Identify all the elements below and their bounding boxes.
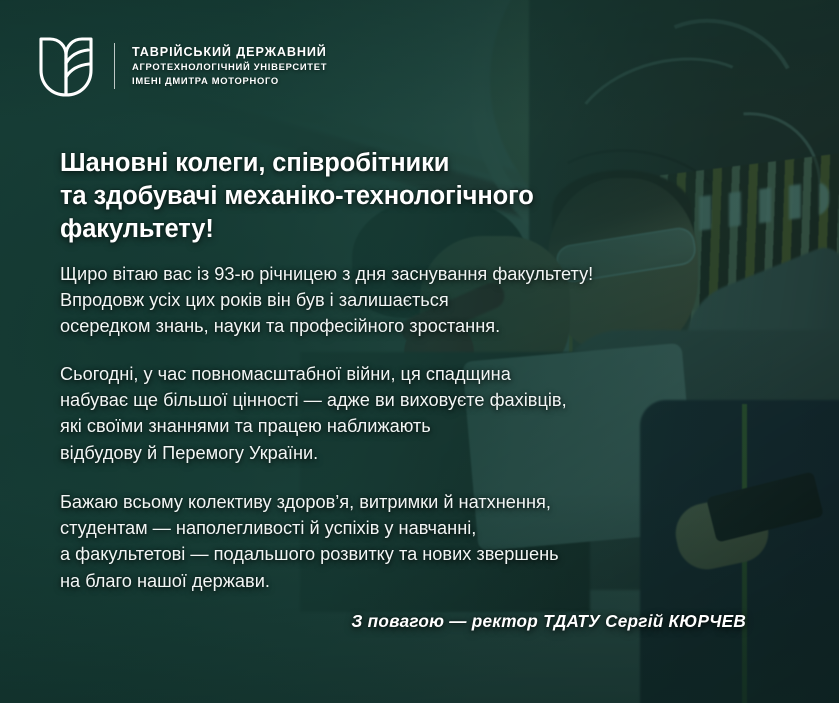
logo-line-3: ІМЕНІ ДМИТРА МОТОРНОГО <box>132 76 327 87</box>
body-line: на благо нашої держави. <box>60 568 760 594</box>
body-paragraph: Бажаю всьому колективу здоров’я, витримк… <box>60 489 760 594</box>
logo-divider <box>114 43 115 89</box>
body-line: а факультетові — подальшого розвитку та … <box>60 541 760 567</box>
body-paragraph: Сьогодні, у час повномасштабної війни, ц… <box>60 361 760 466</box>
body-line: Бажаю всьому колективу здоров’я, витримк… <box>60 489 760 515</box>
headline-line-3: факультету! <box>60 213 720 246</box>
body-line: які своїми знаннями та працею наближають <box>60 413 760 439</box>
logo-line-2: АГРОТЕХНОЛОГІЧНИЙ УНІВЕРСИТЕТ <box>132 62 327 73</box>
headline-line-2: та здобувачі механіко-технологічного <box>60 180 720 213</box>
signature-line: З повагою — ректор ТДАТУ Сергій КЮРЧЕВ <box>0 611 746 632</box>
headline-line-1: Шановні колеги, співробітники <box>60 147 720 180</box>
greeting-poster: ТАВРІЙСЬКИЙ ДЕРЖАВНИЙ АГРОТЕХНОЛОГІЧНИЙ … <box>0 0 839 703</box>
university-logo: ТАВРІЙСЬКИЙ ДЕРЖАВНИЙ АГРОТЕХНОЛОГІЧНИЙ … <box>33 33 327 99</box>
body-line: студентам — наполегливості й успіхів у н… <box>60 515 760 541</box>
tulip-leaf-icon <box>33 33 99 99</box>
body-line: Впродовж усіх цих років він був і залиша… <box>60 287 760 313</box>
body-line: Сьогодні, у час повномасштабної війни, ц… <box>60 361 760 387</box>
body-line: набуває ще більшої цінності — адже ви ви… <box>60 387 760 413</box>
body-paragraph: Щиро вітаю вас із 93-ю річницею з дня за… <box>60 261 760 340</box>
poster-content: ТАВРІЙСЬКИЙ ДЕРЖАВНИЙ АГРОТЕХНОЛОГІЧНИЙ … <box>0 0 839 703</box>
body-line: осередком знань, науки та професійного з… <box>60 313 760 339</box>
body-line: Щиро вітаю вас із 93-ю річницею з дня за… <box>60 261 760 287</box>
headline: Шановні колеги, співробітники та здобува… <box>60 147 720 246</box>
body-line: відбудову й Перемогу України. <box>60 440 760 466</box>
logo-line-1: ТАВРІЙСЬКИЙ ДЕРЖАВНИЙ <box>132 46 327 60</box>
logo-text-block: ТАВРІЙСЬКИЙ ДЕРЖАВНИЙ АГРОТЕХНОЛОГІЧНИЙ … <box>132 46 327 87</box>
